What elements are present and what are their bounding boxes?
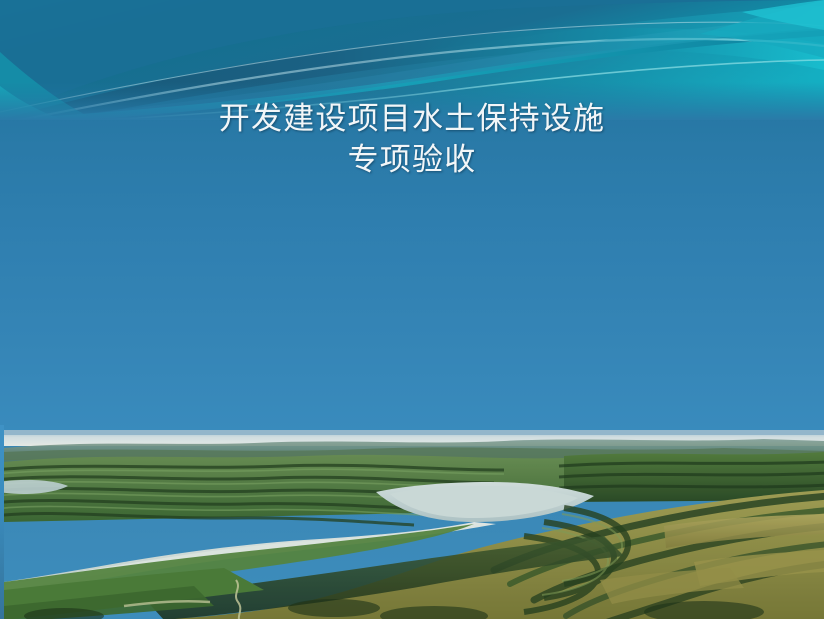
- title-line-1: 开发建设项目水土保持设施: [0, 99, 824, 140]
- landscape-photo: [4, 430, 824, 619]
- title-line-2: 专项验收: [0, 140, 824, 181]
- title-slide: 开发建设项目水土保持设施 专项验收: [0, 0, 824, 619]
- page-title: 开发建设项目水土保持设施 专项验收: [0, 99, 824, 181]
